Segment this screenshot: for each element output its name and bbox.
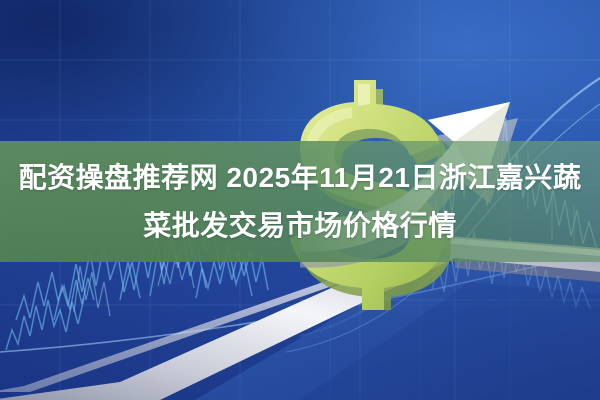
headline-line-2: 菜批发交易市场价格行情 xyxy=(143,203,457,249)
headline-text: 配资操盘推荐网 2025年11月21日浙江嘉兴蔬 菜批发交易市场价格行情 xyxy=(0,141,600,262)
headline-line-1: 配资操盘推荐网 2025年11月21日浙江嘉兴蔬 xyxy=(19,155,582,201)
banner-image: 配资操盘推荐网 2025年11月21日浙江嘉兴蔬 菜批发交易市场价格行情 xyxy=(0,0,600,400)
